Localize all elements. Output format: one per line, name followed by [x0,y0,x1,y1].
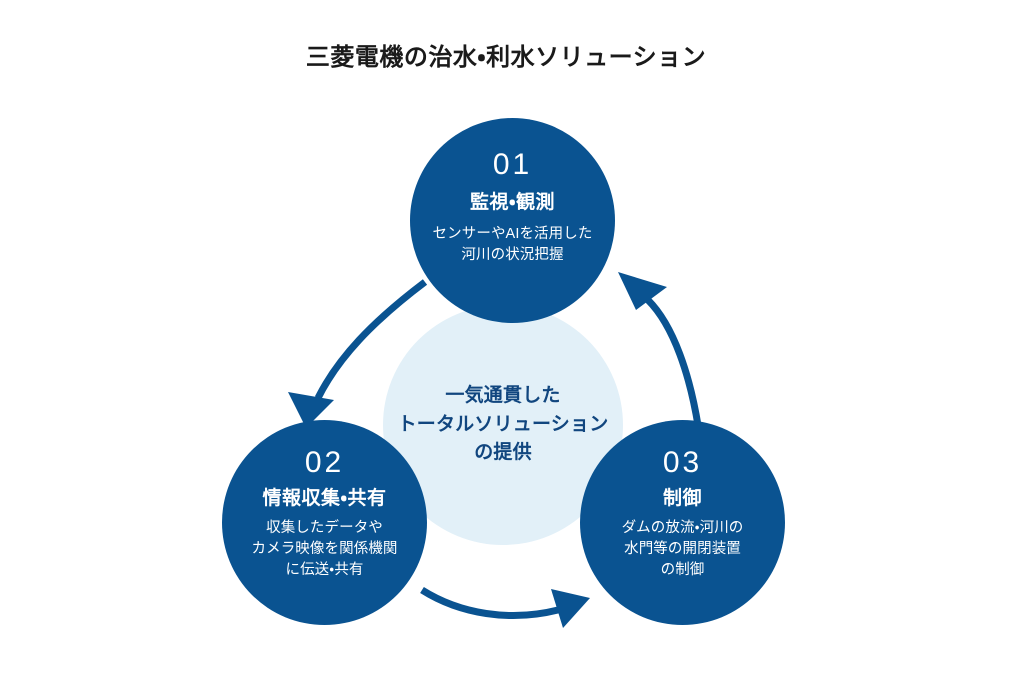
diagram-canvas: 三菱電機の治水・利水ソリューション 一気通貫した トータルソリューション の提供 [0,0,1012,691]
center-hub-label: 一気通貫した トータルソリューション の提供 [398,382,609,468]
node-02-description: 収集したデータや カメラ映像を関係機関 に伝送・共有 [252,518,398,581]
cycle-diagram: 一気通貫した トータルソリューション の提供 01 監視・観測 センサーやAIを… [0,0,1012,691]
node-02-information-sharing[interactable]: 02 情報収集・共有 収集したデータや カメラ映像を関係機関 に伝送・共有 [222,420,427,625]
node-03-control[interactable]: 03 制御 ダムの放流・河川の 水門等の開閉装置 の制御 [580,420,785,625]
node-01-title: 監視・観測 [470,192,555,215]
node-02-number: 02 [305,448,344,478]
node-03-number: 03 [663,448,702,478]
node-02-title: 情報収集・共有 [263,488,387,511]
node-01-monitoring[interactable]: 01 監視・観測 センサーやAIを活用した 河川の状況把握 [410,118,615,323]
node-03-title: 制御 [663,488,702,511]
node-01-description: センサーやAIを活用した 河川の状況把握 [433,224,593,266]
arrow-02-to-03 [422,589,590,628]
node-01-number: 01 [493,150,532,180]
node-03-description: ダムの放流・河川の 水門等の開閉装置 の制御 [622,518,744,581]
